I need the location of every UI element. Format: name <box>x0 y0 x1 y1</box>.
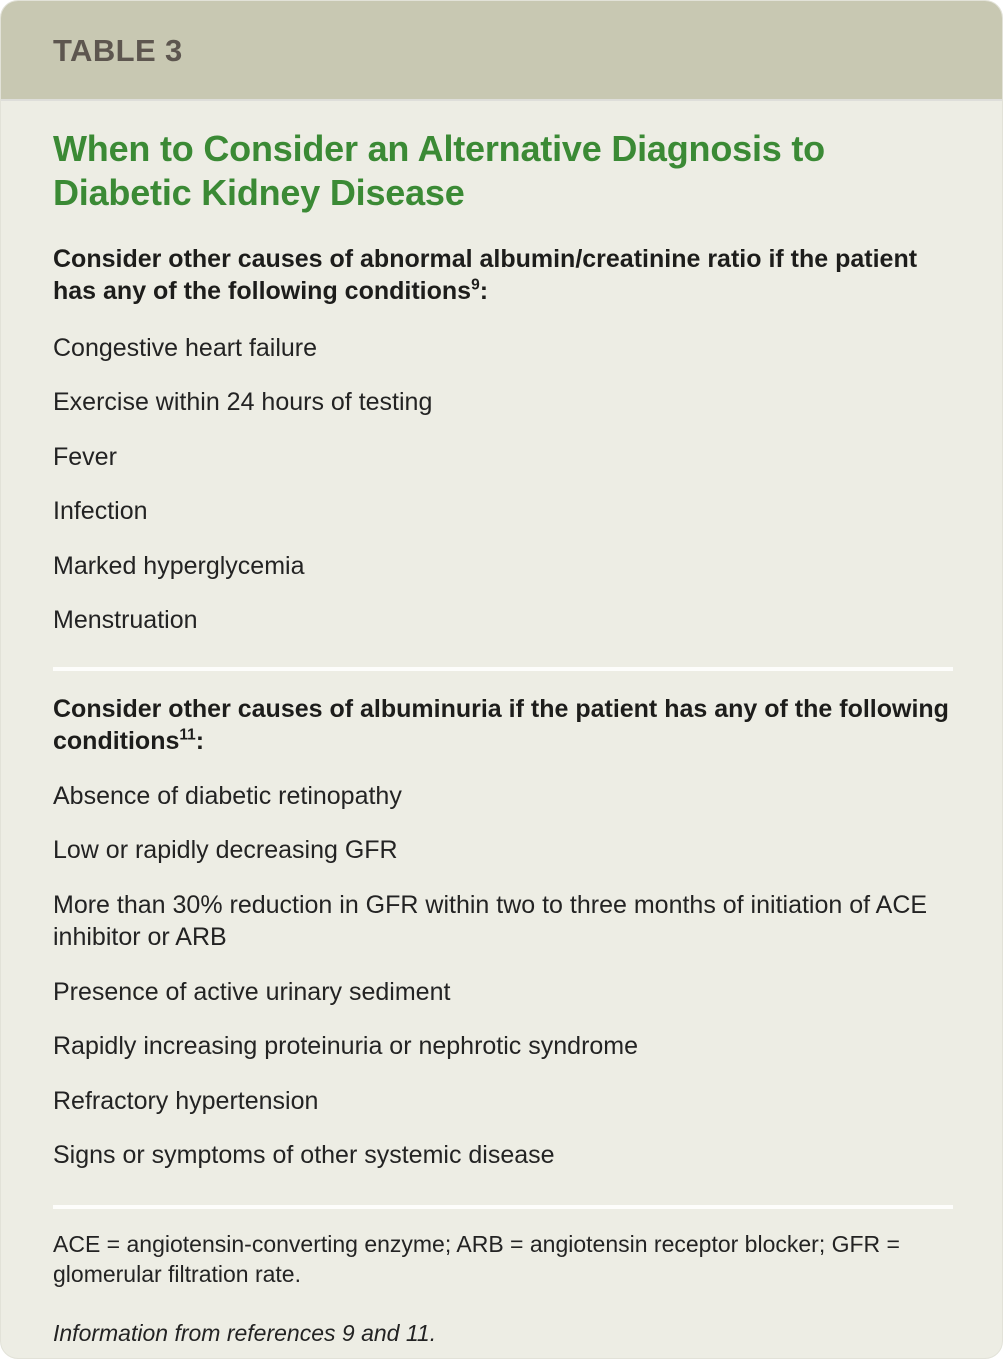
list-item: Low or rapidly decreasing GFR <box>53 834 950 867</box>
list-item: Refractory hypertension <box>53 1085 950 1118</box>
list-item: More than 30% reduction in GFR within tw… <box>53 889 950 954</box>
section-heading: Consider other causes of albuminuria if … <box>53 671 950 758</box>
condition-list: Absence of diabetic retinopathy Low or r… <box>53 780 950 1172</box>
list-item: Fever <box>53 441 950 474</box>
section-heading-text: Consider other causes of albuminuria if … <box>53 695 949 756</box>
footnotes: ACE = angiotensin-converting enzyme; ARB… <box>53 1209 950 1348</box>
list-item: Presence of active urinary sediment <box>53 976 950 1009</box>
list-item: Menstruation <box>53 604 950 637</box>
section-albumin-creatinine-ratio: Consider other causes of abnormal albumi… <box>53 215 950 637</box>
list-item: Signs or symptoms of other systemic dise… <box>53 1139 950 1172</box>
list-item: Absence of diabetic retinopathy <box>53 780 950 813</box>
source-note: Information from references 9 and 11. <box>53 1318 950 1348</box>
list-item: Rapidly increasing proteinuria or nephro… <box>53 1030 950 1063</box>
table-number-label: TABLE 3 <box>53 35 183 66</box>
section-heading-suffix: : <box>196 727 204 755</box>
section-heading-suffix: : <box>480 277 488 305</box>
section-heading-superscript: 9 <box>471 277 480 294</box>
abbreviations-note: ACE = angiotensin-converting enzyme; ARB… <box>53 1229 950 1290</box>
section-albuminuria: Consider other causes of albuminuria if … <box>53 671 950 1172</box>
table-body: When to Consider an Alternative Diagnosi… <box>1 101 1002 1348</box>
list-item: Exercise within 24 hours of testing <box>53 386 950 419</box>
section-heading-superscript: 11 <box>179 727 195 744</box>
table-header-band: TABLE 3 <box>1 1 1002 101</box>
list-item: Marked hyperglycemia <box>53 550 950 583</box>
table-card: TABLE 3 When to Consider an Alternative … <box>0 0 1003 1359</box>
section-heading: Consider other causes of abnormal albumi… <box>53 215 950 308</box>
list-item: Infection <box>53 495 950 528</box>
condition-list: Congestive heart failure Exercise within… <box>53 332 950 637</box>
list-item: Congestive heart failure <box>53 332 950 365</box>
page-title: When to Consider an Alternative Diagnosi… <box>53 101 950 215</box>
